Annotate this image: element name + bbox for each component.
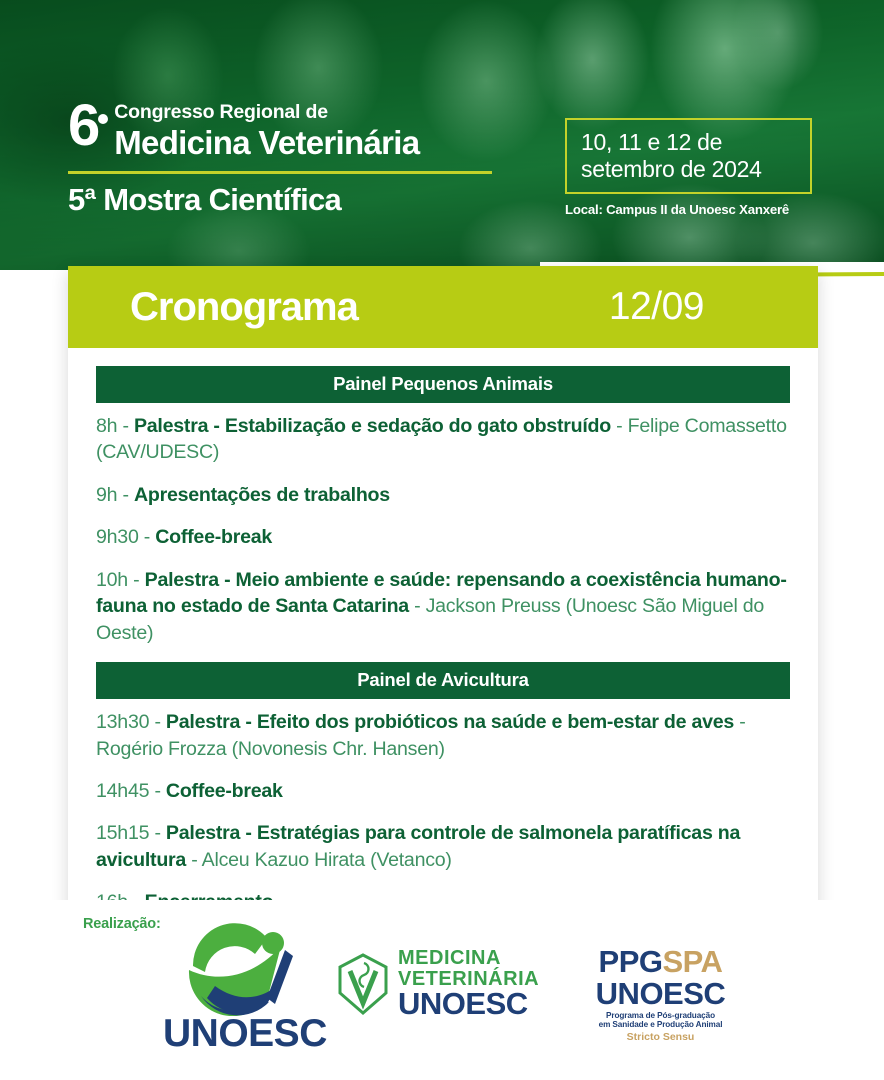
medvet-line-3: UNOESC	[398, 988, 539, 1019]
schedule-entry-separator: -	[117, 415, 134, 437]
panel-heading: Painel de Avicultura	[96, 662, 790, 699]
edition-dot-icon	[98, 114, 108, 124]
schedule-entry-time: 9h30	[96, 526, 139, 548]
unoesc-symbol-icon	[163, 920, 323, 1016]
ppgspa-desc-2: em Sanidade e Produção Animal	[578, 1021, 743, 1029]
schedule-entry: 10h - Palestra - Meio ambiente e saúde: …	[96, 567, 790, 646]
schedule-card: Cronograma 12/09 Painel Pequenos Animais…	[68, 266, 818, 956]
schedule-entry: 9h30 - Coffee-break	[96, 524, 790, 550]
schedule-entry-separator: -	[139, 526, 156, 548]
edition-number: 6	[68, 100, 104, 151]
date-line-1: 10, 11 e 12 de	[581, 129, 796, 156]
schedule-entry-separator: -	[149, 822, 166, 844]
logo-medicina-veterinaria: MEDICINA VETERINÁRIA UNOESC	[336, 948, 539, 1019]
title-divider	[68, 171, 492, 174]
schedule-entry-title: Palestra - Efeito dos probióticos na saú…	[166, 711, 734, 733]
medvet-wordmark: MEDICINA VETERINÁRIA UNOESC	[398, 948, 539, 1019]
schedule-entry-title: Apresentações de trabalhos	[134, 484, 390, 506]
event-title-block: 6 Congresso Regional de Medicina Veterin…	[68, 100, 538, 215]
schedule-body: Painel Pequenos Animais8h - Palestra - E…	[68, 348, 818, 956]
schedule-card-header: Cronograma 12/09	[68, 266, 818, 348]
schedule-entry-separator: -	[117, 484, 134, 506]
schedule-entry-time: 10h	[96, 569, 128, 591]
event-secondary-title: 5ª Mostra Científica	[68, 184, 538, 215]
date-box: 10, 11 e 12 de setembro de 2024	[565, 118, 812, 194]
ppgspa-row-1: PPGSPA	[578, 946, 743, 977]
veterinary-shield-icon	[336, 953, 390, 1015]
event-subtitle-line: Congresso Regional de	[114, 102, 419, 124]
partner-logos: UNOESC MEDICINA VETERINÁRIA UNOESC PPGSP…	[0, 900, 884, 1080]
ppgspa-ppg: PPG	[599, 944, 663, 979]
schedule-entry: 15h15 - Palestra - Estratégias para cont…	[96, 820, 790, 873]
ppgspa-desc-1: Programa de Pós-graduação	[578, 1012, 743, 1020]
ppgspa-spa: SPA	[663, 944, 723, 979]
schedule-entry: 14h45 - Coffee-break	[96, 778, 790, 804]
schedule-entry-title: Palestra - Estabilização e sedação do ga…	[134, 415, 611, 437]
schedule-entry-title: Coffee-break	[155, 526, 272, 548]
panel-heading: Painel Pequenos Animais	[96, 366, 790, 403]
schedule-entry-separator: -	[149, 711, 166, 733]
logo-ppgspa: PPGSPA UNOESC Programa de Pós-graduação …	[578, 946, 743, 1043]
schedule-entry-title: Coffee-break	[166, 780, 283, 802]
unoesc-wordmark: UNOESC	[163, 1012, 323, 1056]
schedule-entry-time: 13h30	[96, 711, 149, 733]
title-texts: Congresso Regional de Medicina Veterinár…	[114, 100, 419, 160]
logo-unoesc: UNOESC	[163, 920, 323, 1056]
schedule-date: 12/09	[609, 285, 790, 329]
schedule-title: Cronograma	[130, 285, 609, 330]
event-location: Local: Campus II da Unoesc Xanxerê	[565, 202, 817, 217]
footer: Realização: UNOESC MEDICINA VET	[0, 900, 884, 1080]
date-info-block: 10, 11 e 12 de setembro de 2024 Local: C…	[565, 118, 817, 217]
schedule-entry: 13h30 - Palestra - Efeito dos probiótico…	[96, 709, 790, 762]
schedule-entry-time: 8h	[96, 415, 117, 437]
date-line-2: setembro de 2024	[581, 156, 796, 183]
medvet-line-1: MEDICINA	[398, 948, 539, 968]
schedule-entry-time: 14h45	[96, 780, 149, 802]
title-row: 6 Congresso Regional de Medicina Veterin…	[68, 100, 538, 160]
schedule-entry-time: 15h15	[96, 822, 149, 844]
schedule-entry-time: 9h	[96, 484, 117, 506]
schedule-entry: 8h - Palestra - Estabilização e sedação …	[96, 413, 790, 466]
schedule-entry-separator: -	[149, 780, 166, 802]
edition-number-text: 6	[68, 93, 98, 158]
ppgspa-desc-3: Stricto Sensu	[578, 1032, 743, 1043]
schedule-entry: 9h - Apresentações de trabalhos	[96, 482, 790, 508]
schedule-entry-speaker: - Alceu Kazuo Hirata (Vetanco)	[186, 849, 452, 871]
schedule-entry-separator: -	[128, 569, 145, 591]
ppgspa-unoesc: UNOESC	[578, 978, 743, 1009]
event-name: Medicina Veterinária	[114, 125, 419, 161]
